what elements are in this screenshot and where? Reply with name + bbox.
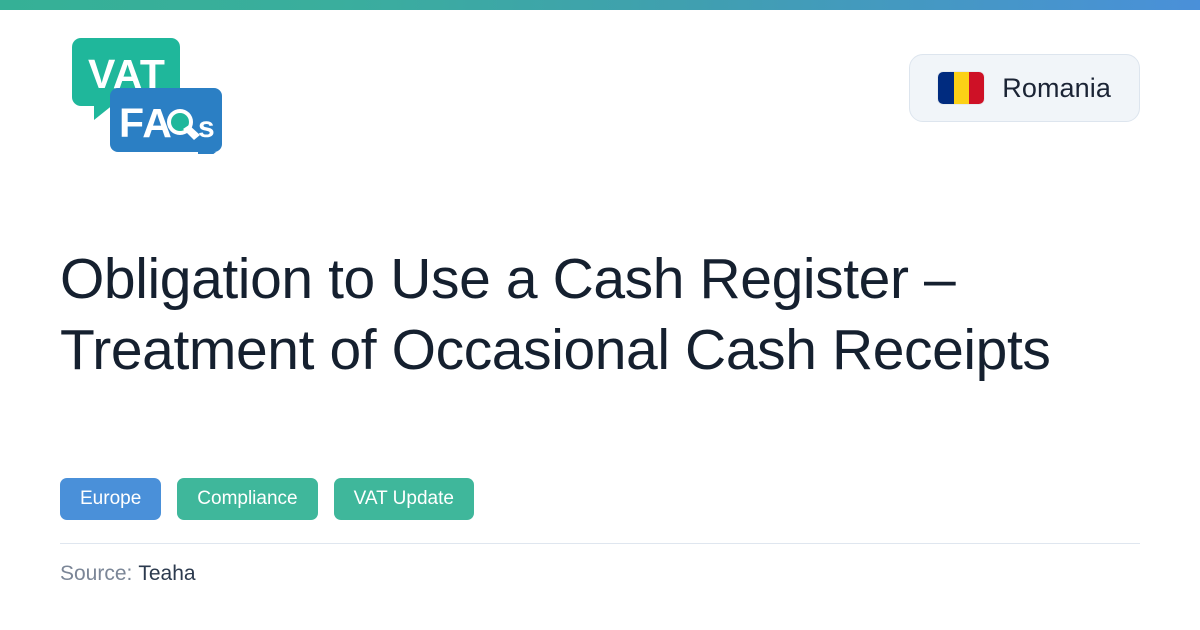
tag-vat-update[interactable]: VAT Update xyxy=(334,478,474,520)
faqs-bubble-blue: FA s xyxy=(110,88,222,154)
country-badge[interactable]: Romania xyxy=(909,54,1140,122)
svg-text:s: s xyxy=(198,111,215,144)
footer-divider xyxy=(60,543,1140,544)
vatfaqs-logo[interactable]: VAT FA s xyxy=(70,36,240,154)
card-header: VAT FA s Romania xyxy=(60,36,1140,156)
page-title: Obligation to Use a Cash Register – Trea… xyxy=(60,244,1150,385)
tag-list: Europe Compliance VAT Update xyxy=(60,478,474,520)
social-share-card: VAT FA s Romania xyxy=(0,0,1200,630)
tag-europe[interactable]: Europe xyxy=(60,478,161,520)
country-name: Romania xyxy=(1002,73,1111,104)
svg-text:FA: FA xyxy=(119,100,172,146)
source-line: Source:Teaha xyxy=(60,562,196,586)
vatfaqs-logo-icon: VAT FA s xyxy=(70,36,240,154)
tag-compliance[interactable]: Compliance xyxy=(177,478,317,520)
top-gradient-bar xyxy=(0,0,1200,10)
source-label: Source: xyxy=(60,562,132,585)
romania-flag-icon xyxy=(938,72,984,104)
source-value: Teaha xyxy=(138,562,195,585)
